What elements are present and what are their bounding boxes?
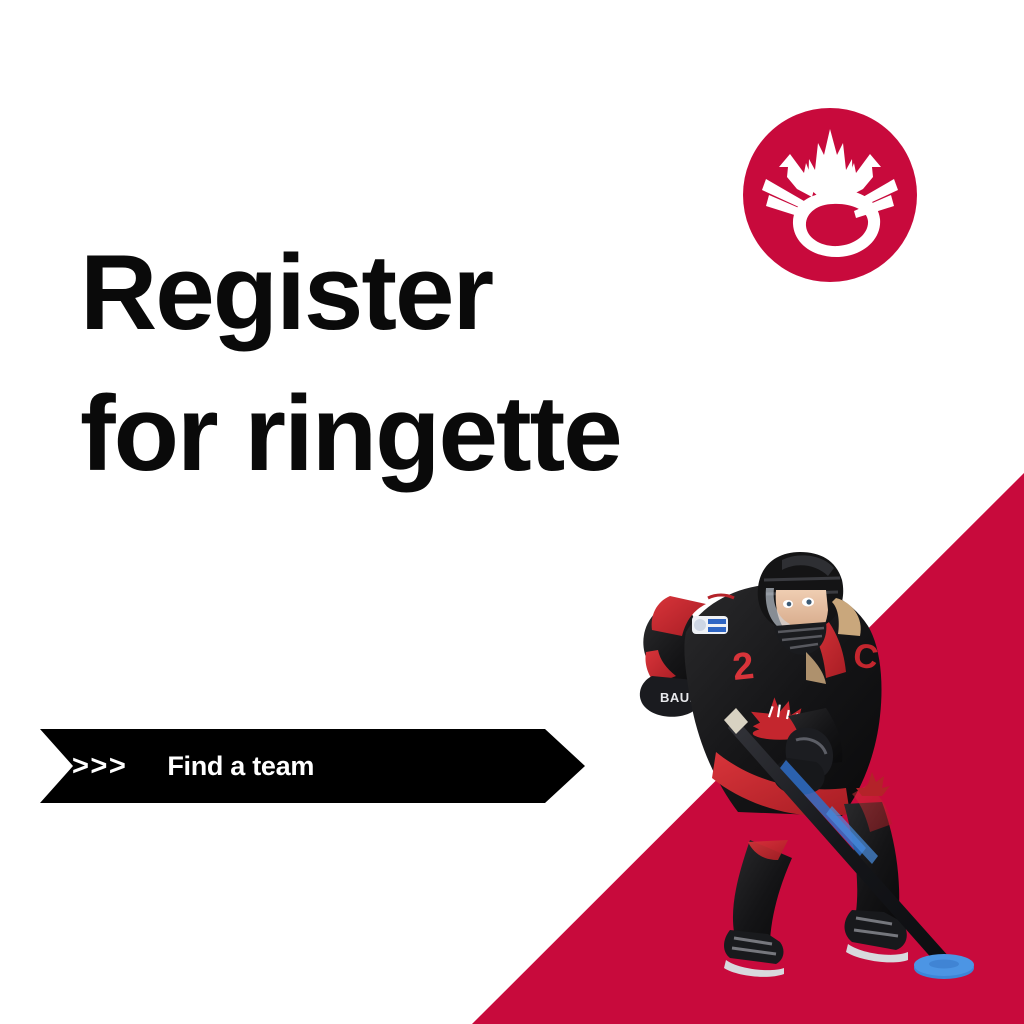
headline-line-1: Register <box>80 222 621 363</box>
headline-line-2: for ringette <box>80 363 621 504</box>
ringette-canada-logo <box>742 107 918 283</box>
svg-text:C: C <box>851 636 881 677</box>
find-a-team-button[interactable]: >>> Find a team <box>40 729 585 803</box>
find-a-team-label: Find a team <box>167 753 314 780</box>
svg-text:2: 2 <box>731 645 756 689</box>
athlete-illustration: BAUER 2 C <box>630 540 975 990</box>
page-title: Register for ringette <box>80 222 621 504</box>
promo-card: Register for ringette <box>0 0 1024 1024</box>
chevrons-right-icon: >>> <box>72 752 127 781</box>
